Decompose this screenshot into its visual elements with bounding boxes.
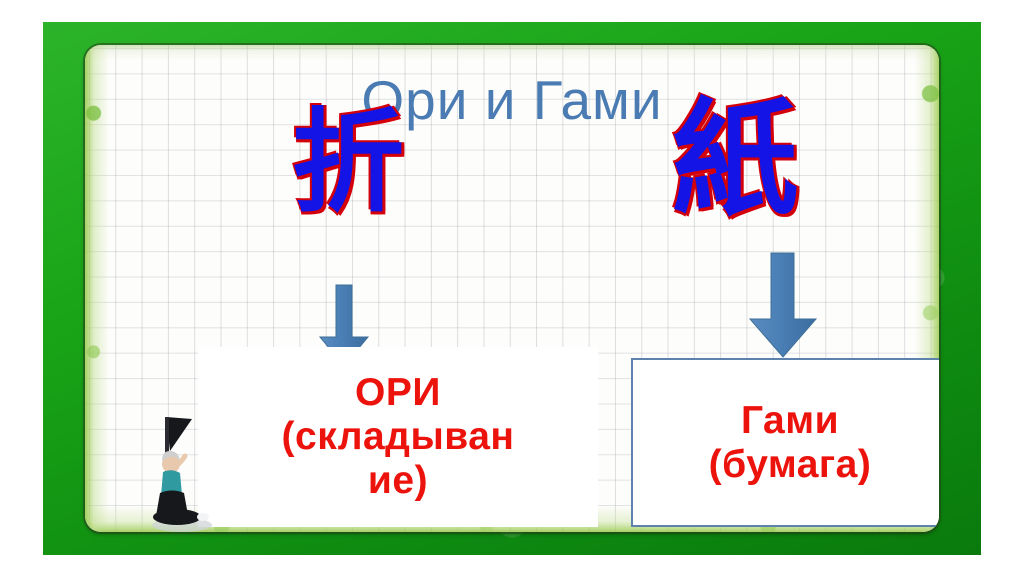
text-box-ori: ОРИ (складыван ие)	[198, 347, 598, 527]
notebook-grid-panel: Ори и Гами 折 紙	[85, 45, 939, 532]
text-box-ori-line-2: (складыван	[282, 415, 515, 459]
kanji-kami-glyph: 紙	[585, 97, 885, 223]
text-box-kami-line-1: Гами	[709, 399, 872, 443]
text-box-ori-line-1: ОРИ	[282, 371, 515, 415]
kanji-ori-glyph: 折	[218, 107, 478, 219]
cartoon-person-figure-icon	[148, 417, 218, 532]
text-box-kami: Гами (бумага)	[631, 358, 939, 527]
text-box-ori-content: ОРИ (складыван ие)	[278, 371, 519, 502]
down-arrow-icon-right	[746, 251, 820, 359]
text-box-ori-line-3: ие)	[282, 459, 515, 503]
green-slide-frame: Ори и Гами 折 紙	[43, 22, 981, 555]
text-box-kami-content: Гами (бумага)	[705, 399, 876, 486]
slide-canvas: Ори и Гами 折 紙	[0, 0, 1024, 576]
text-box-kami-line-2: (бумага)	[709, 443, 872, 487]
